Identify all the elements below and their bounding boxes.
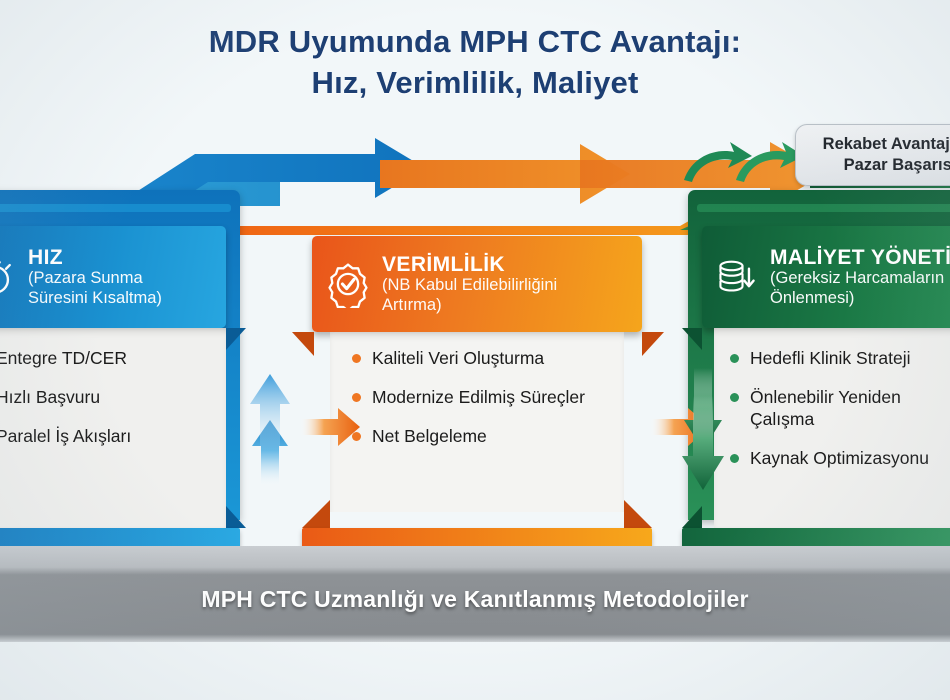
list-item: Net Belgeleme xyxy=(352,426,614,448)
small-green-arrows xyxy=(678,138,808,190)
pillar-speed-sub-1: (Pazara Sunma xyxy=(28,269,162,288)
bullet-label: Entegre TD/CER xyxy=(0,348,127,370)
infographic-canvas: MDR Uyumunda MPH CTC Avantajı: Hız, Veri… xyxy=(0,0,950,700)
pillar-cost-heading: MALİYET YÖNETİMİ xyxy=(770,246,950,270)
pillar-speed-sub-2: Süresini Kısaltma) xyxy=(28,289,162,308)
bullet-label: Hızlı Başvuru xyxy=(0,387,100,409)
pillar-speed-header: HIZ (Pazara Sunma Süresini Kısaltma) xyxy=(0,226,226,328)
bullet-dot xyxy=(352,354,361,363)
blue-up-arrow xyxy=(238,372,302,488)
stopwatch-icon xyxy=(0,255,18,299)
pillar-speed-heading: HIZ xyxy=(28,246,162,270)
list-item: Önlenebilir Yeniden Çalışma xyxy=(730,387,950,431)
list-item: Kaynak Optimizasyonu xyxy=(730,448,950,470)
pillar-cost-header: MALİYET YÖNETİMİ (Gereksiz Harcamaların … xyxy=(702,226,950,328)
bullet-label: Net Belgeleme xyxy=(372,426,487,448)
coins-down-icon xyxy=(714,254,760,300)
orange-right-arrow-1 xyxy=(298,404,362,450)
list-item: Modernize Edilmiş Süreçler xyxy=(352,387,614,409)
pillar-speed-frame-inner xyxy=(0,204,231,212)
list-item: Paralel İş Akışları xyxy=(0,426,216,448)
title-line-1: MDR Uyumunda MPH CTC Avantajı: xyxy=(209,24,741,59)
pillar-efficiency-header: VERİMLİLİK (NB Kabul Edilebilirliğini Ar… xyxy=(312,236,642,332)
pillar-cost-frame-inner xyxy=(697,204,950,212)
callout-competitive-advantage: Rekabet Avantajı ve Pazar Başarısı xyxy=(795,124,950,186)
pillar-efficiency-body: Kaliteli Veri Oluşturma Modernize Edilmi… xyxy=(330,332,624,512)
bullet-label: Kaynak Optimizasyonu xyxy=(750,448,929,470)
title-line-2: Hız, Verimlilik, Maliyet xyxy=(0,63,950,104)
pillar-efficiency-heading: VERİMLİLİK xyxy=(382,253,557,277)
pillar-cost-body: Hedefli Klinik Strateji Önlenebilir Yeni… xyxy=(714,328,950,528)
gear-check-icon xyxy=(324,260,372,308)
callout-line-2: Pazar Başarısı xyxy=(823,155,950,176)
pillar-efficiency-bullets: Kaliteli Veri Oluşturma Modernize Edilmi… xyxy=(330,332,624,465)
pillar-efficiency-wing-left xyxy=(302,500,330,528)
pillar-cost-sub-1: (Gereksiz Harcamaların xyxy=(770,269,950,288)
pillar-efficiency: VERİMLİLİK (NB Kabul Edilebilirliğini Ar… xyxy=(312,190,652,560)
bullet-label: Paralel İş Akışları xyxy=(0,426,131,448)
pillar-speed-body: Entegre TD/CER Hızlı Başvuru Paralel İş … xyxy=(0,328,226,528)
bullet-label: Modernize Edilmiş Süreçler xyxy=(372,387,585,409)
pillar-cost-bullets: Hedefli Klinik Strateji Önlenebilir Yeni… xyxy=(714,328,950,487)
green-down-arrow xyxy=(672,368,734,494)
bullet-label: Önlenebilir Yeniden Çalışma xyxy=(750,387,946,431)
pillar-efficiency-sub-1: (NB Kabul Edilebilirliğini xyxy=(382,276,557,295)
pillar-efficiency-fold-left xyxy=(292,332,314,356)
list-item: Kaliteli Veri Oluşturma xyxy=(352,348,614,370)
list-item: Entegre TD/CER xyxy=(0,348,216,370)
foundation-label: MPH CTC Uzmanlığı ve Kanıtlanmış Metodol… xyxy=(0,586,950,613)
pillar-cost-wing-left xyxy=(682,506,702,528)
pillar-speed-wing-right xyxy=(226,506,246,528)
pillar-efficiency-wing-right xyxy=(624,500,652,528)
list-item: Hedefli Klinik Strateji xyxy=(730,348,950,370)
pillar-cost-fold-left xyxy=(682,328,702,350)
pillar-efficiency-fold-right xyxy=(642,332,664,356)
pillar-speed: HIZ (Pazara Sunma Süresini Kısaltma) Ent… xyxy=(0,190,240,560)
pillar-cost-sub-2: Önlenmesi) xyxy=(770,289,950,308)
pillar-efficiency-sub-2: Artırma) xyxy=(382,296,557,315)
bullet-dot xyxy=(352,393,361,402)
pillar-speed-bullets: Entegre TD/CER Hızlı Başvuru Paralel İş … xyxy=(0,328,226,465)
bullet-label: Kaliteli Veri Oluşturma xyxy=(372,348,544,370)
page-title: MDR Uyumunda MPH CTC Avantajı: Hız, Veri… xyxy=(0,22,950,104)
pillar-speed-fold-right xyxy=(226,328,246,350)
callout-line-1: Rekabet Avantajı ve xyxy=(823,134,950,155)
bullet-label: Hedefli Klinik Strateji xyxy=(750,348,910,370)
bullet-dot xyxy=(730,354,739,363)
list-item: Hızlı Başvuru xyxy=(0,387,216,409)
